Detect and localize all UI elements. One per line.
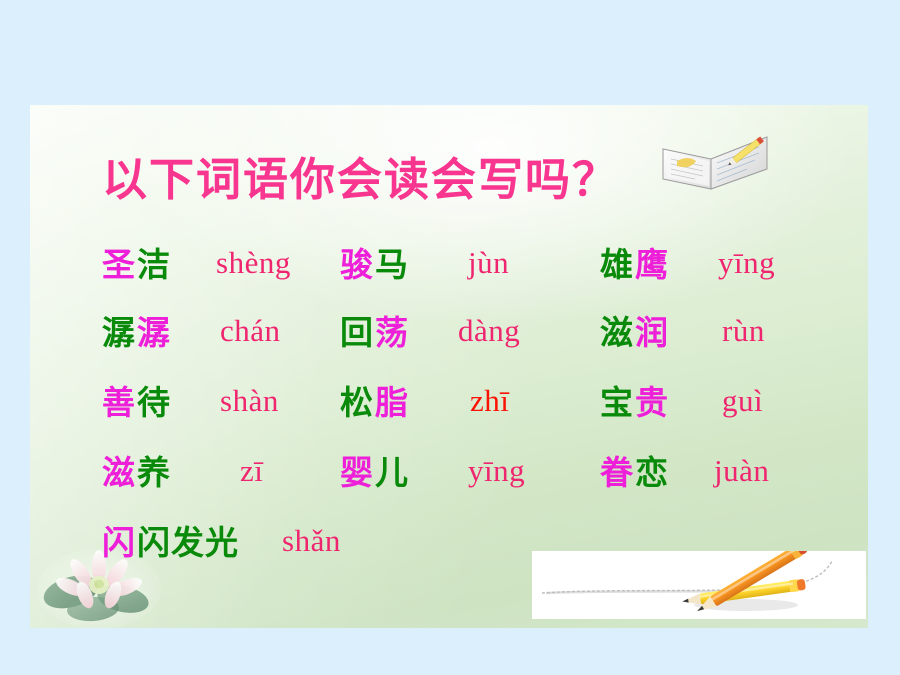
pinyin-label: zhī [470,379,509,423]
pinyin-label: guì [722,379,763,423]
pinyin-label: jùn [468,241,509,285]
vocab-item[interactable]: 闪 闪发光 shǎn [102,517,432,581]
vocab-item[interactable]: 宝 贵 guì [600,377,850,441]
vocab-item[interactable]: 圣 洁 shèng [102,239,332,303]
word-char: 养 [137,451,171,495]
open-book-icon [655,125,773,193]
word-char: 洁 [137,243,171,287]
word-char: 善 [102,381,136,425]
vocab-item[interactable]: 滋 润 rùn [600,307,850,371]
pinyin-label: zī [240,449,263,493]
vocab-item[interactable]: 松 脂 zhī [340,377,570,441]
word-char: 回 [340,311,374,355]
page-title: 以下词语你会读会写吗？ [102,143,619,208]
vocab-item[interactable]: 眷 恋 juàn [600,447,850,511]
word-char: 滋 [102,451,136,495]
pinyin-label: yīng [718,241,775,285]
table-row: 滋 养 zī 婴 儿 yīng 眷 恋 juàn [30,447,868,511]
pinyin-label: yīng [468,449,525,493]
table-row: 潺 潺 chán 回 荡 dàng 滋 润 rùn [30,307,868,371]
pinyin-label: shǎn [282,519,341,563]
pinyin-label: dàng [458,309,520,353]
word-char: 贵 [635,381,669,425]
table-row: 圣 洁 shèng 骏 马 jùn 雄 鹰 yīng [30,239,868,303]
vocab-item[interactable]: 婴 儿 yīng [340,447,570,511]
slide-stage: 以下词语你会读会写吗？ [0,0,900,675]
word-char: 潺 [137,311,171,355]
pinyin-label: shàn [220,379,279,423]
vocab-item[interactable]: 善 待 shàn [102,377,332,441]
word-char: 松 [340,381,374,425]
word-char: 脂 [375,381,409,425]
presentation-slide: 以下词语你会读会写吗？ [30,105,868,628]
pinyin-label: chán [220,309,281,353]
word-char: 荡 [375,311,409,355]
word-char: 圣 [102,243,136,287]
word-char: 润 [635,311,669,355]
word-char: 儿 [375,451,409,495]
pinyin-label: rùn [722,309,765,353]
word-char: 婴 [340,451,374,495]
word-char: 鹰 [635,243,669,287]
word-char: 眷 [600,451,634,495]
word-char: 滋 [600,311,634,355]
pinyin-label: shèng [216,241,291,285]
vocab-item[interactable]: 回 荡 dàng [340,307,570,371]
word-char: 骏 [340,243,374,287]
vocab-item[interactable]: 潺 潺 chán [102,307,332,371]
table-row: 善 待 shàn 松 脂 zhī 宝 贵 guì [30,377,868,441]
vocab-item[interactable]: 骏 马 jùn [340,239,570,303]
pinyin-label: juàn [714,449,769,493]
vocab-item[interactable]: 雄 鹰 yīng [600,239,850,303]
pencils-image [532,551,866,619]
word-char: 闪 [102,521,136,565]
word-char: 闪发光 [137,521,239,565]
vocab-item[interactable]: 滋 养 zī [102,447,332,511]
word-char: 宝 [600,381,634,425]
word-char: 马 [375,243,409,287]
word-char: 待 [137,381,171,425]
word-char: 潺 [102,311,136,355]
word-char: 恋 [635,451,669,495]
word-char: 雄 [600,243,634,287]
